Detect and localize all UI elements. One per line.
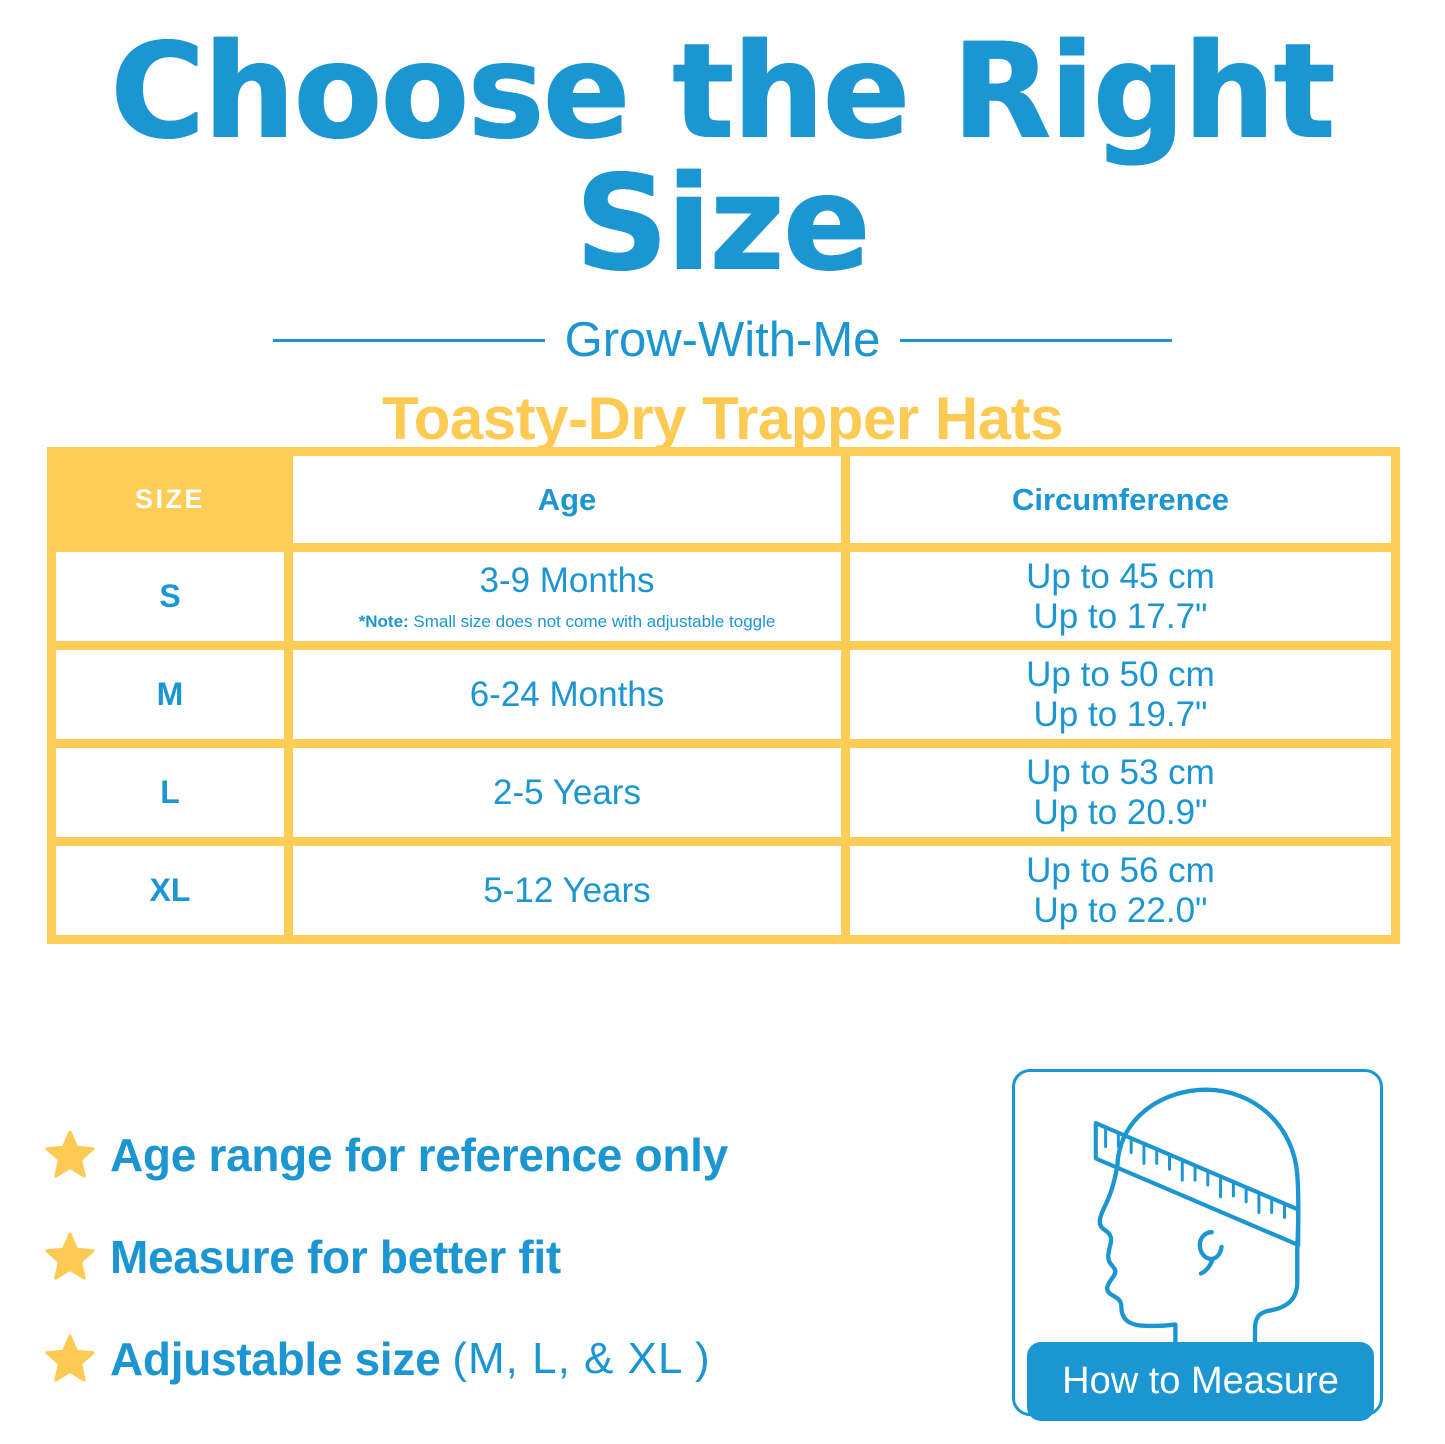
subtitle-row: Grow-With-Me bbox=[0, 312, 1445, 368]
table-row: S 3-9 Months *Note: Small size does not … bbox=[56, 552, 1391, 641]
bullet-label: Age range for reference only bbox=[110, 1128, 728, 1182]
divider-right bbox=[900, 339, 1172, 342]
how-to-measure-card[interactable]: How to Measure bbox=[1012, 1069, 1383, 1416]
cell-age: 5-12 Years bbox=[293, 846, 841, 935]
table-row: XL 5-12 Years Up to 56 cm Up to 22.0" bbox=[56, 846, 1391, 935]
cell-circumference: Up to 45 cm Up to 17.7" bbox=[850, 552, 1391, 641]
circumference-in: Up to 20.9" bbox=[1034, 793, 1208, 832]
note-label: *Note: bbox=[359, 612, 409, 631]
size-note: *Note: Small size does not come with adj… bbox=[359, 612, 776, 632]
bullet-list: Age range for reference only Measure for… bbox=[44, 1104, 984, 1410]
circumference-cm: Up to 45 cm bbox=[1026, 557, 1215, 596]
column-header-size: SIZE bbox=[56, 456, 284, 543]
circumference-in: Up to 22.0" bbox=[1034, 891, 1208, 930]
cell-size: XL bbox=[56, 846, 284, 935]
bullet-label: Adjustable size bbox=[110, 1332, 440, 1386]
table-row: M 6-24 Months Up to 50 cm Up to 19.7" bbox=[56, 650, 1391, 739]
bullet-label: Measure for better fit bbox=[110, 1230, 561, 1284]
brand-name: Toasty-Dry Trapper Hats bbox=[0, 384, 1445, 453]
subtitle: Grow-With-Me bbox=[565, 312, 881, 368]
star-icon bbox=[44, 1333, 96, 1385]
column-header-age: Age bbox=[293, 456, 841, 543]
column-header-circumference: Circumference bbox=[850, 456, 1391, 543]
divider-left bbox=[273, 339, 545, 342]
cell-age: 6-24 Months bbox=[293, 650, 841, 739]
page-header: Choose the Right Size Grow-With-Me Toast… bbox=[0, 0, 1445, 453]
bullet-suffix: (M, L, & XL ) bbox=[452, 1334, 710, 1384]
how-to-measure-button[interactable]: How to Measure bbox=[1027, 1342, 1374, 1421]
star-icon bbox=[44, 1231, 96, 1283]
table-row: L 2-5 Years Up to 53 cm Up to 20.9" bbox=[56, 748, 1391, 837]
size-value: S bbox=[159, 578, 180, 615]
size-value: M bbox=[157, 676, 184, 713]
star-icon bbox=[44, 1129, 96, 1181]
circumference-cm: Up to 56 cm bbox=[1026, 851, 1215, 890]
cell-circumference: Up to 56 cm Up to 22.0" bbox=[850, 846, 1391, 935]
table-header-row: SIZE Age Circumference bbox=[56, 456, 1391, 543]
cell-size: S bbox=[56, 552, 284, 641]
list-item: Age range for reference only bbox=[44, 1104, 984, 1206]
page-title: Choose the Right Size bbox=[22, 26, 1424, 290]
list-item: Adjustable size (M, L, & XL ) bbox=[44, 1308, 984, 1410]
cell-circumference: Up to 53 cm Up to 20.9" bbox=[850, 748, 1391, 837]
age-value: 3-9 Months bbox=[479, 561, 654, 601]
cell-size: L bbox=[56, 748, 284, 837]
age-value: 6-24 Months bbox=[470, 675, 665, 715]
size-value: XL bbox=[150, 872, 191, 909]
circumference-cm: Up to 53 cm bbox=[1026, 753, 1215, 792]
how-to-measure-label: How to Measure bbox=[1062, 1360, 1339, 1403]
cell-size: M bbox=[56, 650, 284, 739]
column-header-circumference-label: Circumference bbox=[1012, 482, 1229, 518]
circumference-in: Up to 19.7" bbox=[1034, 695, 1208, 734]
age-value: 2-5 Years bbox=[493, 773, 641, 813]
size-value: L bbox=[160, 774, 180, 811]
list-item: Measure for better fit bbox=[44, 1206, 984, 1308]
age-value: 5-12 Years bbox=[483, 871, 650, 911]
cell-circumference: Up to 50 cm Up to 19.7" bbox=[850, 650, 1391, 739]
cell-age: 3-9 Months *Note: Small size does not co… bbox=[293, 552, 841, 641]
circumference-cm: Up to 50 cm bbox=[1026, 655, 1215, 694]
note-body: Small size does not come with adjustable… bbox=[409, 612, 776, 631]
circumference-in: Up to 17.7" bbox=[1034, 597, 1208, 636]
cell-age: 2-5 Years bbox=[293, 748, 841, 837]
size-chart-table: SIZE Age Circumference S 3-9 Months *Not… bbox=[47, 447, 1400, 944]
column-header-age-label: Age bbox=[538, 482, 597, 518]
